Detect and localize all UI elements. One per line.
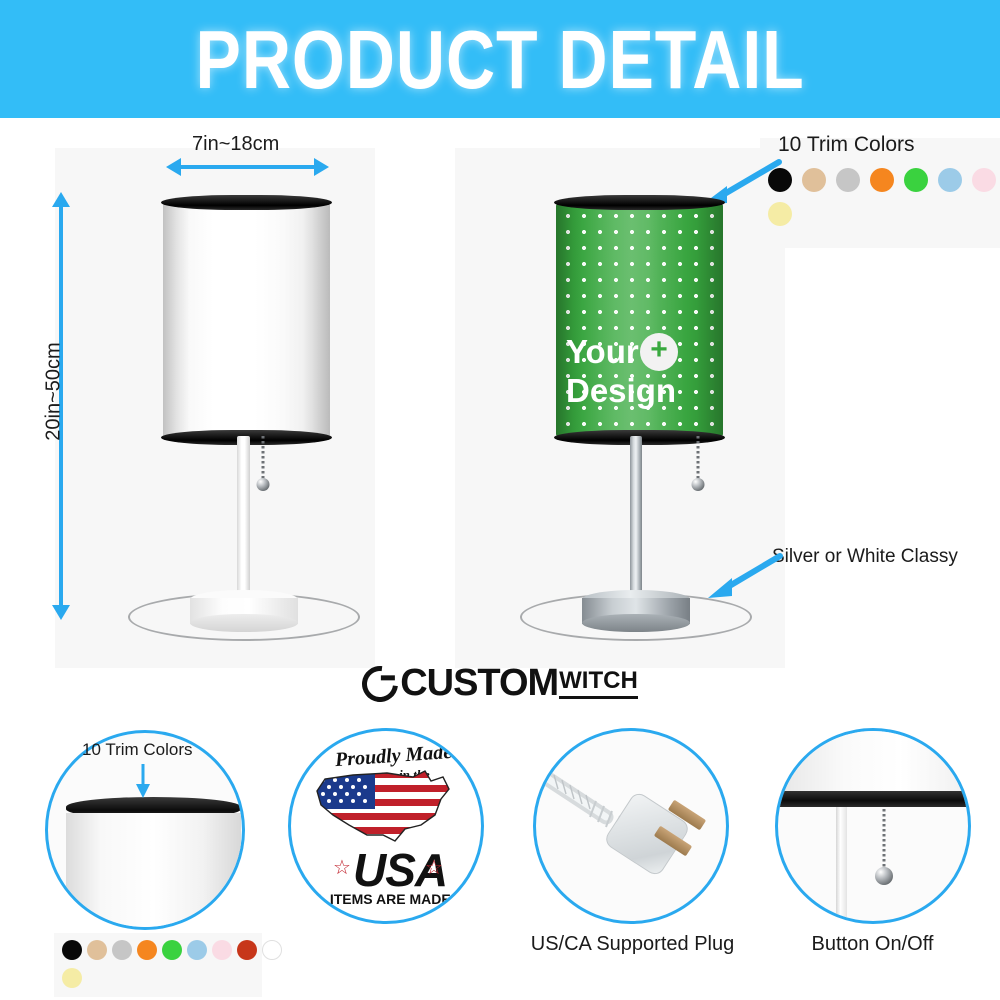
usa-flag-map-icon — [309, 763, 469, 851]
swatch-pink[interactable] — [972, 168, 996, 192]
switch-feature-label: Button On/Off — [765, 933, 980, 956]
swatch-gray[interactable] — [112, 940, 132, 960]
add-design-plus-icon[interactable]: + — [640, 333, 678, 371]
plug-circle — [533, 728, 729, 924]
switch-feature: Button On/Off — [765, 728, 980, 978]
design-line-2: Design — [566, 374, 717, 407]
swatch-tan[interactable] — [87, 940, 107, 960]
plus-glyph: + — [650, 335, 668, 365]
chain-ball[interactable] — [692, 478, 705, 491]
swatch-pink[interactable] — [212, 940, 232, 960]
header-banner: PRODUCT DETAIL — [0, 0, 1000, 118]
chain-line — [883, 809, 886, 871]
trim-color-swatch-row-top[interactable] — [768, 168, 1000, 192]
logo-witch-box: WITCH — [559, 669, 638, 699]
swatch-tan[interactable] — [802, 168, 826, 192]
chain-ball[interactable] — [257, 478, 270, 491]
made-in-usa-feature: Proudly Made in the — [288, 728, 503, 928]
white-lamp-pole — [237, 436, 250, 606]
logo-underline — [559, 696, 638, 699]
swatch-green[interactable] — [162, 940, 182, 960]
star-left-icon: ☆ — [333, 855, 351, 880]
switch-pole — [836, 807, 847, 924]
made-in-usa-circle: Proudly Made in the — [288, 728, 484, 924]
chain-line — [697, 436, 700, 480]
shade-fragment-body — [66, 813, 241, 930]
trim-colors-down-arrow — [132, 762, 154, 800]
swatch-orange[interactable] — [870, 168, 894, 192]
base-finish-callout-label: Silver or White Classy — [772, 546, 958, 568]
chain-line — [262, 436, 265, 480]
swatch-green[interactable] — [904, 168, 928, 192]
feature-swatch-row-1[interactable] — [62, 940, 282, 960]
base-bottom — [582, 614, 690, 632]
product-stage: 10 Trim Colors 7in~18cm 20in~50cm — [0, 118, 1000, 718]
swatch-red[interactable] — [237, 940, 257, 960]
brand-logo: CUSTOM WITCH — [0, 662, 1000, 705]
usa-made-to-order-text: ALL ITEMS ARE MADE TO ORDER! — [299, 891, 484, 907]
base-bottom — [190, 614, 298, 632]
logo-witch-text: WITCH — [559, 669, 638, 693]
width-dimension-arrow — [180, 165, 315, 169]
base-finish-arrow — [700, 550, 785, 605]
page-title: PRODUCT DETAIL — [195, 11, 804, 106]
green-lamp-trim-top — [554, 195, 725, 210]
feature-swatch-row-2[interactable] — [62, 968, 82, 988]
white-lamp-trim-top — [161, 195, 332, 210]
trim-colors-heading: 10 Trim Colors — [778, 133, 915, 157]
white-lamp-pull-chain[interactable] — [256, 436, 270, 494]
green-lamp-pull-chain[interactable] — [691, 436, 705, 494]
plug-feature-label: US/CA Supported Plug — [505, 933, 760, 956]
logo-custom-text: CUSTOM — [400, 662, 558, 705]
star-right-icon: ☆ — [425, 855, 443, 880]
shade-bottom-fragment — [775, 731, 971, 793]
green-lamp-base — [582, 590, 690, 632]
trim-colors-inner-label: 10 Trim Colors — [82, 740, 193, 760]
switch-pull-chain[interactable] — [876, 809, 892, 899]
switch-circle — [775, 728, 971, 924]
swatch-orange[interactable] — [137, 940, 157, 960]
logo-c-icon — [355, 658, 406, 709]
swatch-yellow[interactable] — [62, 968, 82, 988]
swatch-black[interactable] — [62, 940, 82, 960]
chain-ball[interactable] — [875, 867, 893, 885]
switch-trim-bar — [775, 791, 971, 807]
green-lamp-shade[interactable]: Your Design + — [556, 203, 723, 437]
white-lamp-shade — [163, 203, 330, 437]
white-lamp-base — [190, 590, 298, 632]
white-shade-surface — [163, 203, 330, 437]
plug-feature: US/CA Supported Plug — [505, 728, 760, 978]
height-dimension-label: 20in~50cm — [43, 322, 66, 462]
green-lamp-pole — [630, 436, 642, 606]
swatch-light-blue[interactable] — [187, 940, 207, 960]
swatch-gray[interactable] — [836, 168, 860, 192]
width-dimension-label: 7in~18cm — [192, 133, 279, 156]
trim-colors-circle — [45, 730, 245, 930]
swatch-white[interactable] — [262, 940, 282, 960]
trim-colors-feature: 10 Trim Colors — [40, 730, 270, 1000]
swatch-light-blue[interactable] — [938, 168, 962, 192]
